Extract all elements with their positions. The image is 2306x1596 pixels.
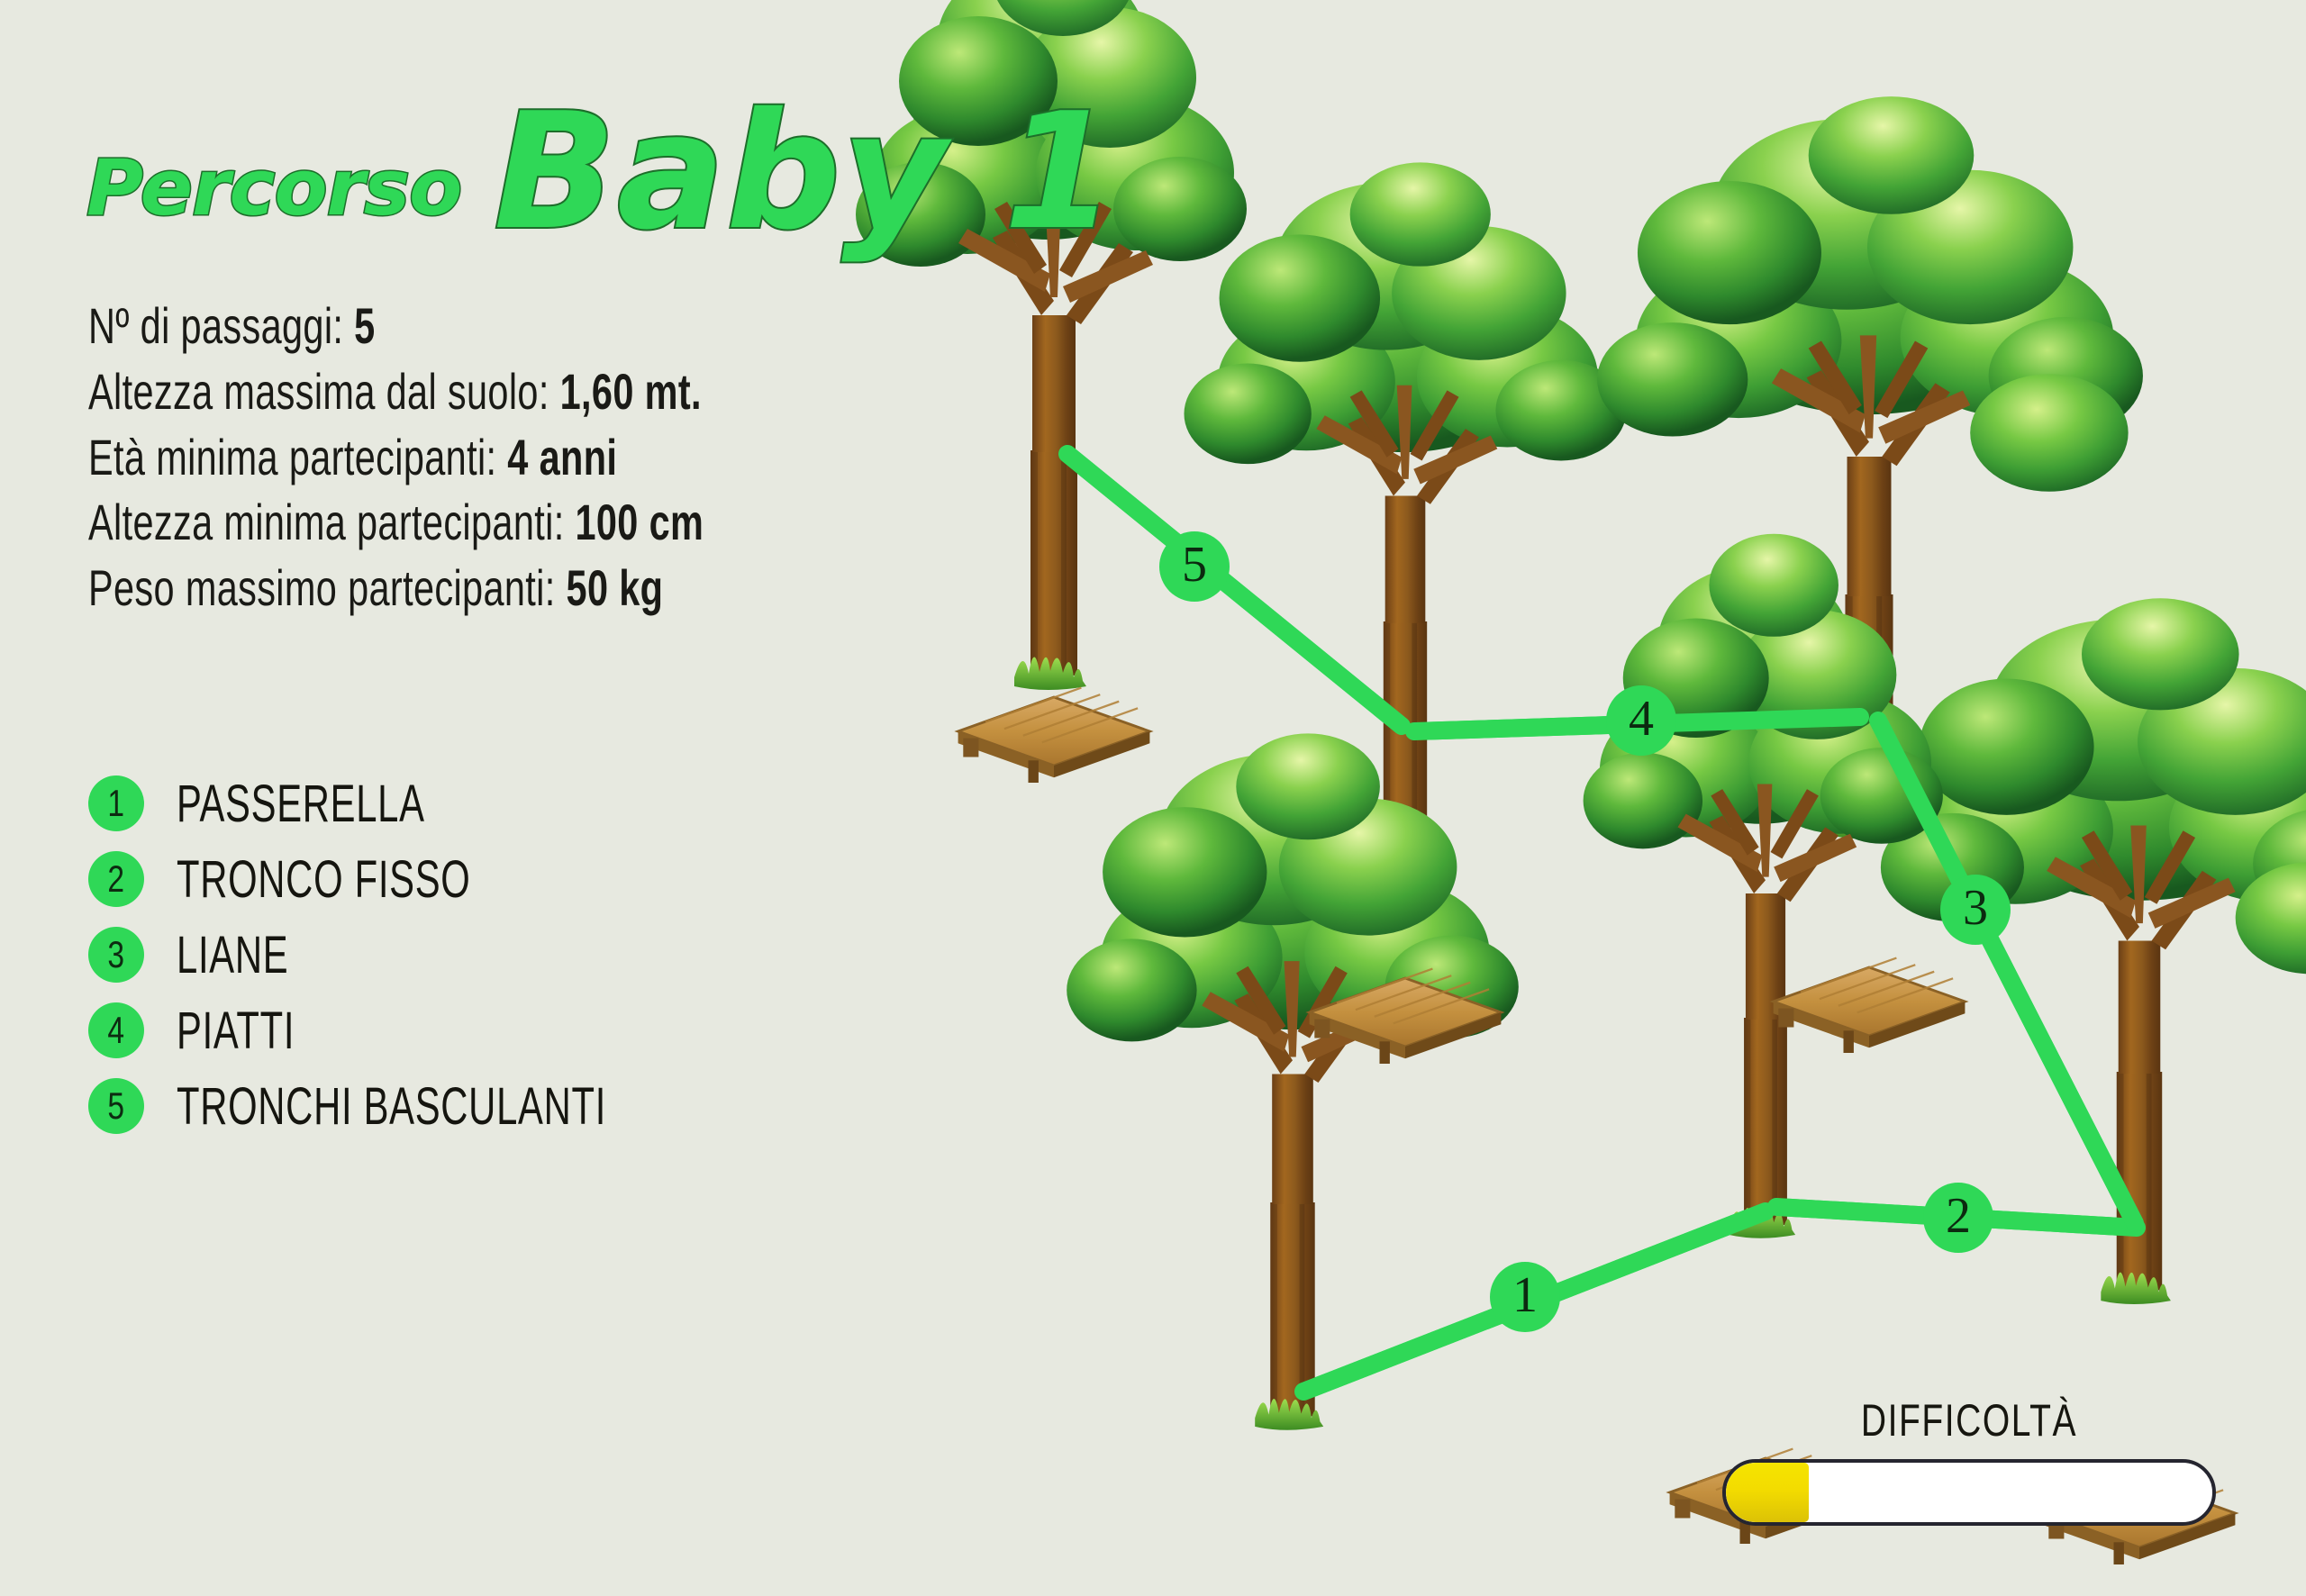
course-marker-4[interactable]: 4	[1606, 685, 1676, 756]
obstacle-legend: 1 PASSERELLA 2 TRONCO FISSO 3 LIANE 4 PI…	[88, 766, 774, 1144]
difficulty-meter	[1722, 1459, 2216, 1526]
course-marker-3[interactable]: 3	[1940, 875, 2011, 945]
tree-platform-3	[1774, 958, 1966, 1053]
course-infographic: 12345 Percorso Baby 1 Nº di passaggi: 5 …	[0, 0, 2306, 1596]
path-segment-5	[1067, 454, 1402, 726]
legend-badge-icon: 2	[88, 851, 144, 907]
course-marker-2[interactable]: 2	[1923, 1183, 1993, 1253]
legend-number: 2	[108, 860, 125, 898]
spec-value: 100 cm	[575, 494, 704, 550]
course-marker-5[interactable]: 5	[1159, 531, 1230, 602]
course-marker-1[interactable]: 1	[1490, 1262, 1560, 1332]
spec-label: Età minima partecipanti:	[88, 429, 496, 485]
title-main: Baby 1	[494, 92, 1116, 252]
legend-number: 5	[108, 1087, 125, 1125]
tree-trunk	[958, 196, 1153, 690]
legend-label: PIATTI	[177, 1001, 295, 1061]
page-title: Percorso Baby 1	[86, 79, 1116, 240]
specs-list: Nº di passaggi: 5 Altezza massima dal su…	[88, 294, 920, 621]
spec-label: Altezza massima dal suolo:	[88, 363, 549, 420]
course-marker-number: 5	[1182, 540, 1207, 590]
legend-number: 4	[108, 1011, 125, 1049]
legend-badge-icon: 4	[88, 1002, 144, 1058]
difficulty-section: DIFFICOLTÀ	[1722, 1394, 2216, 1526]
legend-label: LIANE	[177, 925, 288, 985]
tree-platform-1	[958, 688, 1150, 783]
spec-row: Altezza massima dal suolo: 1,60 mt.	[88, 359, 704, 425]
spec-value: 4 anni	[507, 429, 617, 485]
spec-row: Peso massimo partecipanti: 50 kg	[88, 556, 704, 621]
difficulty-fill	[1726, 1463, 1809, 1522]
spec-label: Peso massimo partecipanti:	[88, 559, 556, 616]
legend-badge-icon: 5	[88, 1078, 144, 1134]
course-marker-number: 3	[1963, 883, 1988, 933]
tree-mid-upper	[1184, 162, 1626, 844]
spec-row: Età minima partecipanti: 4 anni	[88, 425, 704, 491]
spec-row: Nº di passaggi: 5	[88, 294, 704, 359]
legend-label: TRONCO FISSO	[177, 849, 470, 910]
legend-badge-icon: 1	[88, 775, 144, 831]
legend-label: TRONCHI BASCULANTI	[177, 1076, 606, 1137]
title-prefix: Percorso	[86, 150, 461, 227]
spec-row: Altezza minima partecipanti: 100 cm	[88, 490, 704, 556]
legend-item-1: 1 PASSERELLA	[88, 766, 774, 841]
spec-value: 5	[354, 297, 375, 354]
legend-item-4: 4 PIATTI	[88, 993, 774, 1068]
course-marker-number: 2	[1946, 1191, 1971, 1241]
course-marker-number: 4	[1629, 694, 1654, 744]
legend-label: PASSERELLA	[177, 774, 425, 834]
course-marker-number: 1	[1512, 1270, 1538, 1320]
legend-item-5: 5 TRONCHI BASCULANTI	[88, 1068, 774, 1144]
spec-value: 50 kg	[567, 559, 664, 616]
legend-number: 1	[108, 784, 125, 822]
legend-item-2: 2 TRONCO FISSO	[88, 841, 774, 917]
spec-label: Nº di passaggi:	[88, 297, 343, 354]
legend-item-3: 3 LIANE	[88, 917, 774, 993]
legend-badge-icon: 3	[88, 927, 144, 983]
spec-value: 1,60 mt.	[560, 363, 702, 420]
spec-label: Altezza minima partecipanti:	[88, 494, 565, 550]
difficulty-label: DIFFICOLTÀ	[1776, 1394, 2161, 1446]
legend-number: 3	[108, 936, 125, 974]
